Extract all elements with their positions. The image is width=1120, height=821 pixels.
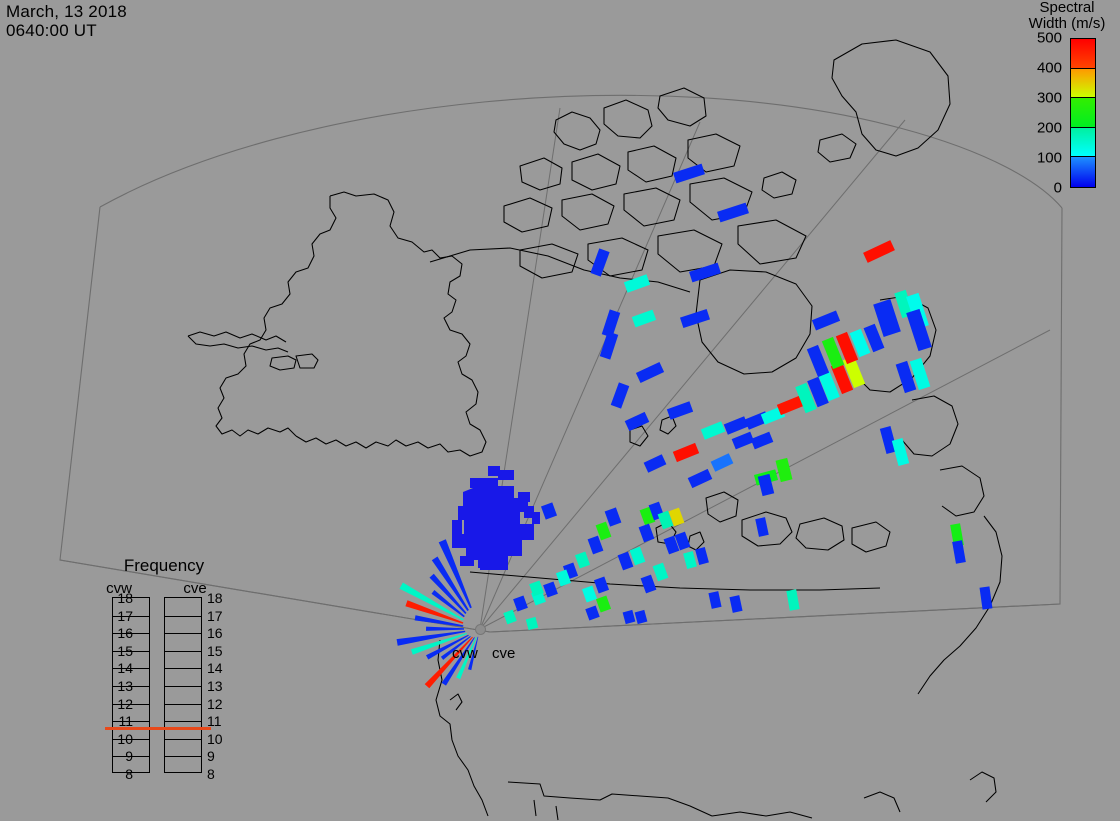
colorbar-ticks: 5004003002001000 — [1014, 38, 1066, 188]
colorbar-tick-0: 0 — [1054, 181, 1062, 196]
frequency-marker-east — [157, 727, 211, 730]
frequency-gridline-15 — [165, 651, 201, 652]
frequency-cvw-scale: 18171615141312111098 — [112, 597, 150, 773]
colorbar-title-line1: Spectral — [1014, 0, 1120, 16]
datestamp: March, 13 20180640:00 UT — [6, 2, 127, 40]
beam-cell — [426, 627, 464, 631]
datestamp-time: 0640:00 UT — [6, 21, 97, 40]
frequency-tick-east-13: 13 — [207, 679, 229, 693]
colorbar-tick-400: 400 — [1037, 61, 1062, 76]
colorbar-tick-300: 300 — [1037, 91, 1062, 106]
frequency-gridline-17 — [113, 616, 149, 617]
superdarn-map-view: March, 13 20180640:00 UT Spectral Width … — [0, 0, 1120, 821]
frequency-gridline-11 — [113, 721, 149, 722]
colorbar-tick-500: 500 — [1037, 31, 1062, 46]
frequency-tick-west-8: 8 — [111, 767, 133, 781]
station-label-cvw: cvw — [452, 645, 478, 662]
frequency-tick-east-11: 11 — [207, 714, 229, 728]
colorbar-tick-100: 100 — [1037, 151, 1062, 166]
spectral-width-colorbar: Spectral Width (m/s) 5004003002001000 — [1014, 0, 1120, 188]
frequency-cve-ticks: 18171615141312111098 — [207, 598, 229, 774]
frequency-gridline-10 — [113, 739, 149, 740]
colorbar-tick-200: 200 — [1037, 121, 1062, 136]
frequency-legend: Frequency cvw 18171615141312111098 cve 1… — [88, 556, 240, 780]
frequency-gridline-12 — [113, 704, 149, 705]
frequency-gridline-13 — [165, 686, 201, 687]
frequency-column-cve: cve 18171615141312111098 — [164, 580, 226, 773]
frequency-gridline-14 — [165, 668, 201, 669]
frequency-gridline-14 — [113, 668, 149, 669]
frequency-tick-east-9: 9 — [207, 749, 229, 763]
frequency-tick-east-17: 17 — [207, 609, 229, 623]
datestamp-date: March, 13 2018 — [6, 2, 127, 21]
frequency-tick-east-15: 15 — [207, 644, 229, 658]
frequency-tick-east-14: 14 — [207, 661, 229, 675]
colorbar-segment-2 — [1071, 98, 1095, 128]
station-label-cve: cve — [492, 645, 515, 662]
frequency-gridline-11 — [165, 721, 201, 722]
colorbar-gradient — [1070, 38, 1096, 188]
frequency-gridline-9 — [113, 756, 149, 757]
frequency-tick-east-10: 10 — [207, 732, 229, 746]
colorbar-segment-4 — [1071, 157, 1095, 187]
frequency-gridline-17 — [165, 616, 201, 617]
frequency-tick-east-8: 8 — [207, 767, 229, 781]
frequency-cve-scale: 18171615141312111098 — [164, 597, 202, 773]
frequency-gridline-16 — [113, 633, 149, 634]
frequency-gridline-9 — [165, 756, 201, 757]
frequency-gridline-15 — [113, 651, 149, 652]
colorbar-segment-0 — [1071, 39, 1095, 69]
frequency-tick-east-12: 12 — [207, 697, 229, 711]
frequency-legend-title: Frequency — [88, 556, 240, 576]
frequency-gridline-10 — [165, 739, 201, 740]
frequency-gridline-13 — [113, 686, 149, 687]
frequency-column-cvw: cvw 18171615141312111098 — [88, 580, 150, 773]
frequency-marker-west — [105, 727, 159, 730]
frequency-tick-east-16: 16 — [207, 626, 229, 640]
frequency-gridline-12 — [165, 704, 201, 705]
radar-station-marker — [475, 624, 486, 635]
colorbar-title-line2: Width (m/s) — [1014, 16, 1120, 32]
frequency-tick-west-18: 18 — [111, 591, 133, 605]
colorbar-segment-1 — [1071, 69, 1095, 99]
frequency-tick-east-18: 18 — [207, 591, 229, 605]
colorbar-segment-3 — [1071, 128, 1095, 158]
frequency-gridline-16 — [165, 633, 201, 634]
